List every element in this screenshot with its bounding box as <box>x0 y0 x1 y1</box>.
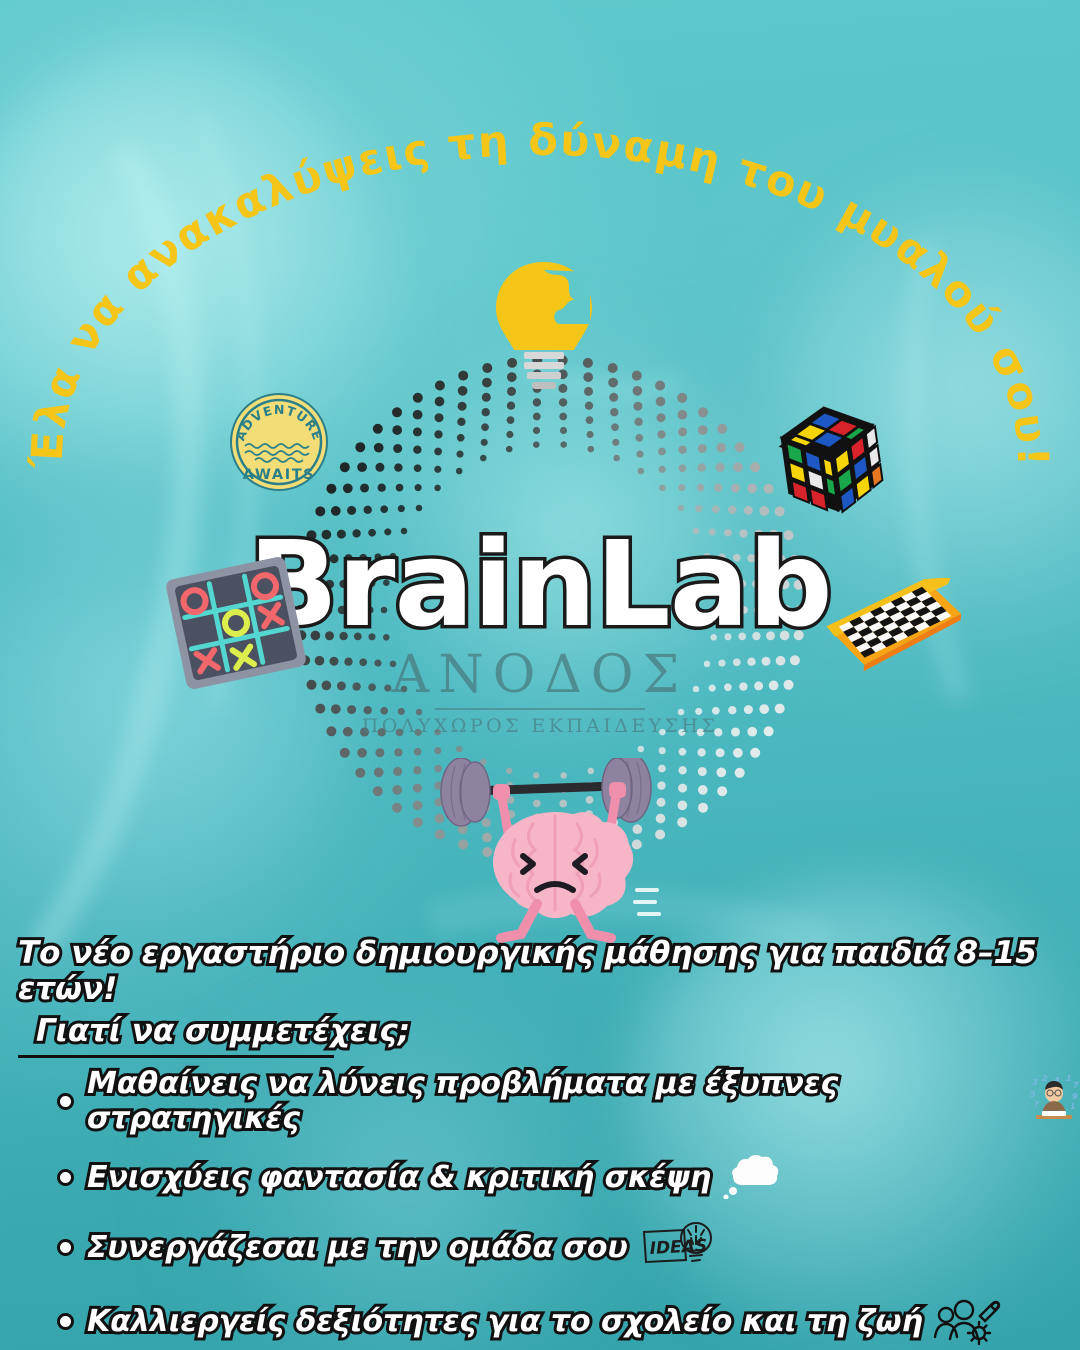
ideas-lightbulb-icon: IDEAS <box>638 1218 716 1276</box>
checkerboard-icon <box>815 578 967 682</box>
bullet-label: Μαθαίνεις να λύνεις προβλήματα με έξυπνε… <box>87 1066 1018 1136</box>
list-item: Μαθαίνεις να λύνεις προβλήματα με έξυπνε… <box>60 1066 1080 1136</box>
logo-tagline: ΠΟΛΥΧΩΡΟΣ ΕΚΠΑΙΔΕΥΣΗΣ <box>0 715 1080 737</box>
svg-text:5: 5 <box>1030 1090 1036 1099</box>
copy-block: Το νέο εργαστήριο δημιουργικής μάθησης γ… <box>0 935 1080 1350</box>
svg-text:?: ? <box>1034 1100 1039 1109</box>
bullet-dot-icon <box>60 1242 71 1253</box>
svg-text:7: 7 <box>1073 1081 1079 1090</box>
svg-text:2: 2 <box>1042 1075 1048 1083</box>
brain-lifting-barbell-icon <box>425 758 665 948</box>
headline-text: Το νέο εργαστήριο δημιουργικής μάθησης γ… <box>18 935 1080 1007</box>
person-studying-icon: 324 175 9?1 <box>1028 1075 1080 1127</box>
list-item: Ενισχύεις φαντασία & κριτική σκέψη <box>60 1155 1080 1199</box>
question-underline <box>18 1055 334 1058</box>
bullet-label: Ενισχύεις φαντασία & κριτική σκέψη <box>87 1160 711 1195</box>
thought-bubble-icon <box>721 1155 779 1199</box>
svg-text:1: 1 <box>1066 1075 1072 1083</box>
list-item: Καλλιεργείς δεξιότητες για το σχολείο κα… <box>60 1295 1080 1347</box>
bullet-dot-icon <box>60 1316 71 1327</box>
svg-text:3: 3 <box>1032 1078 1038 1087</box>
logo-wordmark: BrainLab <box>248 525 832 643</box>
svg-text:9: 9 <box>1072 1092 1078 1101</box>
people-with-tools-icon <box>933 1295 1001 1347</box>
tic-tac-toe-board-icon <box>163 557 309 689</box>
bullet-dot-icon <box>60 1096 71 1107</box>
logo-divider <box>435 708 645 710</box>
bullet-dot-icon <box>60 1172 71 1183</box>
poster-canvas: Έλα να ανακαλύψεις τη δύναμη του μυαλού … <box>0 0 1080 1350</box>
puzzle-lightbulb-icon <box>482 252 606 392</box>
rubiks-cube-icon <box>765 393 897 525</box>
list-item: Συνεργάζεσαι με την ομάδα σου IDEAS <box>60 1218 1080 1276</box>
benefits-list: Μαθαίνεις να λύνεις προβλήματα με έξυπνε… <box>0 1066 1080 1350</box>
question-text: Γιατί να συμμετέχεις; <box>36 1013 410 1049</box>
bullet-label: Καλλιεργείς δεξιότητες για το σχολείο κα… <box>87 1304 923 1339</box>
svg-text:IDEAS: IDEAS <box>649 1236 707 1259</box>
svg-text:1: 1 <box>1070 1102 1076 1111</box>
bullet-label: Συνεργάζεσαι με την ομάδα σου <box>87 1230 628 1265</box>
